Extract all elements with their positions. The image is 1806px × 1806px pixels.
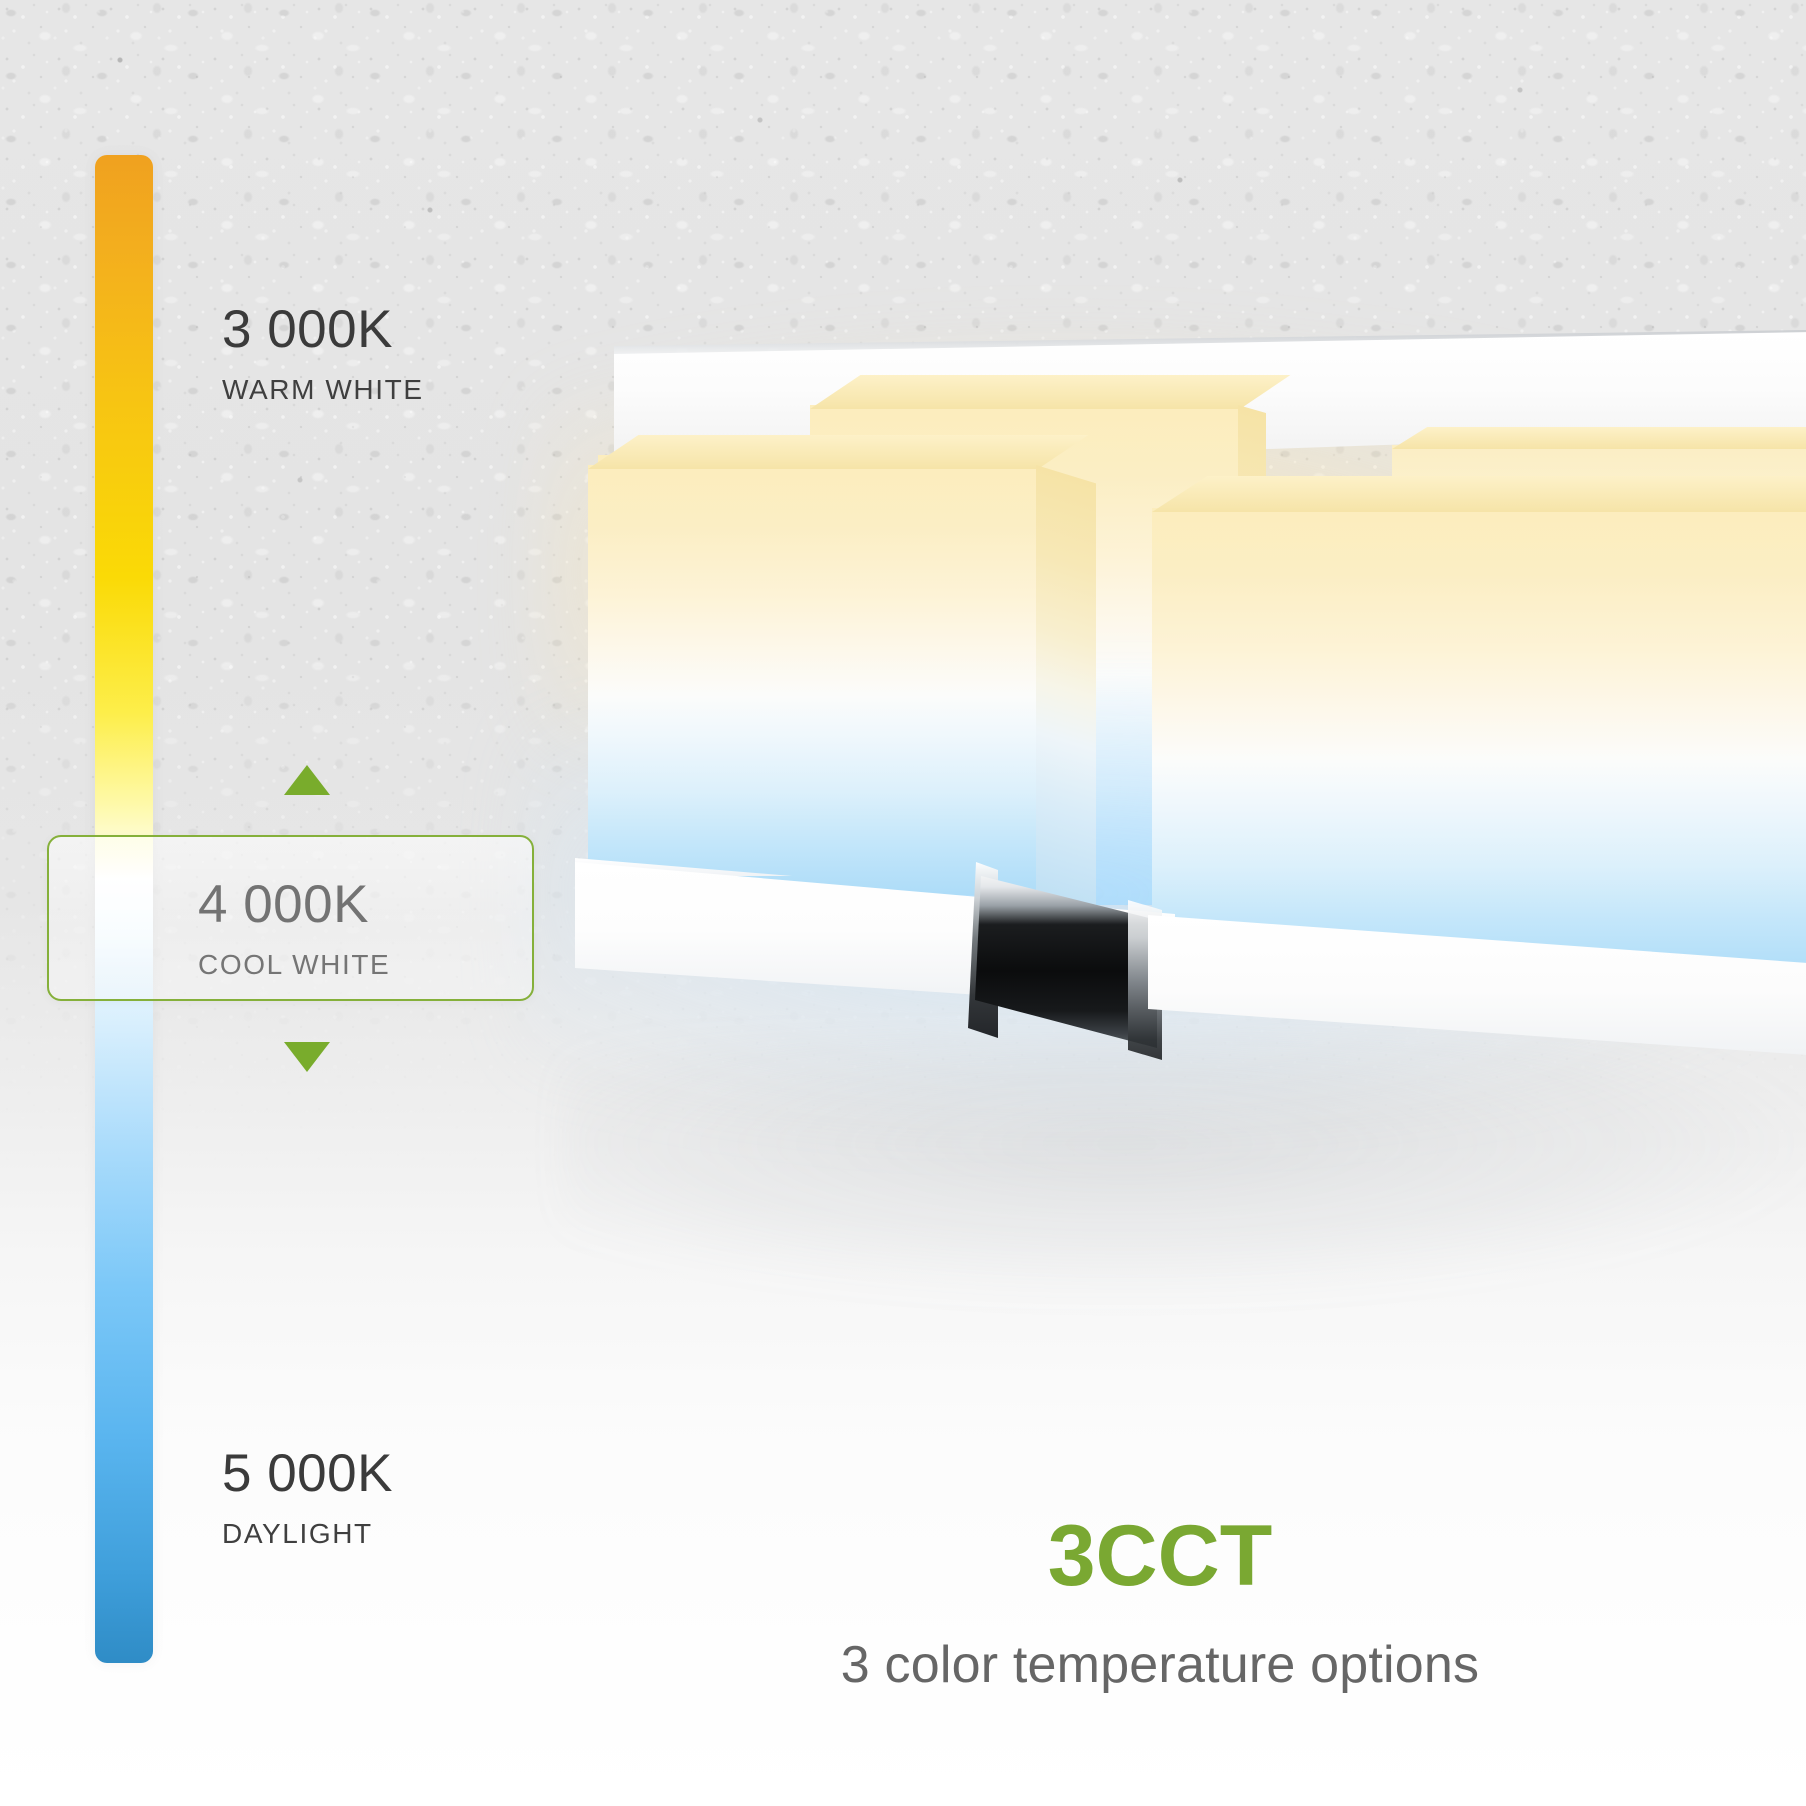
shade-top xyxy=(810,375,1290,409)
cct-option-daylight-value: 5 000K xyxy=(222,1447,393,1500)
cct-option-warm-value: 3 000K xyxy=(222,303,424,356)
shade-face xyxy=(1152,508,1806,978)
headline-block: 3CCT 3 color temperature options xyxy=(660,1513,1660,1691)
light-shade-3 xyxy=(1152,508,1806,978)
cct-option-cool[interactable]: 4 000K COOL WHITE xyxy=(198,878,390,979)
shade-side xyxy=(1036,465,1096,913)
triangle-up-icon[interactable] xyxy=(284,765,330,795)
shade-top xyxy=(1152,476,1806,512)
cct-option-cool-value: 4 000K xyxy=(198,878,390,931)
shade-face xyxy=(588,465,1038,895)
triangle-down-icon[interactable] xyxy=(284,1042,330,1072)
cct-option-warm[interactable]: 3 000K WARM WHITE xyxy=(222,303,424,404)
cct-option-cool-name: COOL WHITE xyxy=(198,951,390,979)
cct-option-daylight-name: DAYLIGHT xyxy=(222,1520,393,1548)
headline-title: 3CCT xyxy=(660,1513,1660,1599)
cct-option-daylight[interactable]: 5 000K DAYLIGHT xyxy=(222,1447,393,1548)
light-shade-1 xyxy=(588,465,1038,895)
shade-top xyxy=(1392,427,1806,449)
product-infographic: 3 000K WARM WHITE 4 000K COOL WHITE 5 00… xyxy=(0,0,1806,1806)
headline-subtitle: 3 color temperature options xyxy=(660,1639,1660,1691)
cct-option-warm-name: WARM WHITE xyxy=(222,376,424,404)
shade-top xyxy=(588,435,1088,469)
